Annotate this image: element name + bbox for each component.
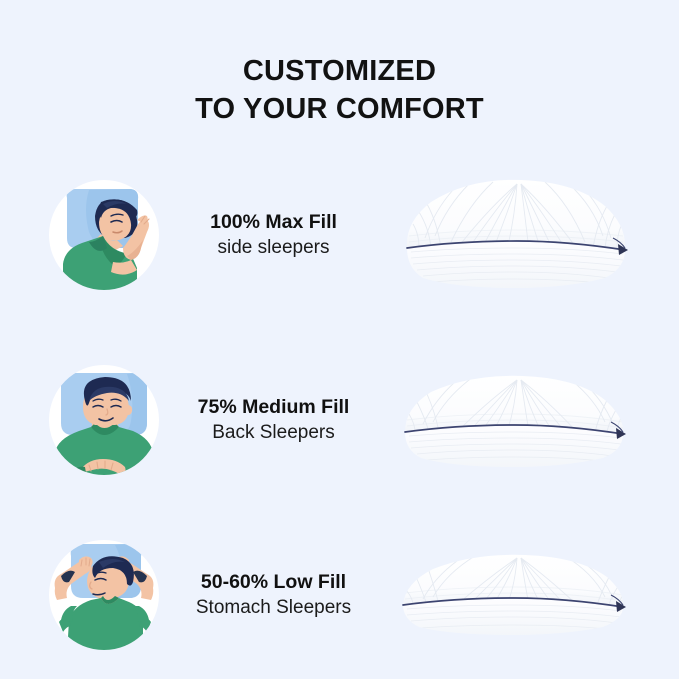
comfort-row-back-sleeper: 75% Medium Fill Back Sleepers	[0, 340, 679, 500]
comfort-row-stomach-sleeper: 50-60% Low Fill Stomach Sleepers	[0, 515, 679, 675]
back-sleeper-type-label: Back Sleepers	[171, 420, 376, 445]
back-sleeper-fill-label: 75% Medium Fill	[171, 395, 376, 420]
pillow-low-loft	[394, 530, 639, 660]
back-sleeper-illustration	[45, 361, 163, 479]
page-title-line-2: TO YOUR COMFORT	[0, 90, 679, 128]
page-title-line-1: CUSTOMIZED	[0, 52, 679, 90]
page-title: CUSTOMIZED TO YOUR COMFORT	[0, 52, 679, 128]
side-sleeper-labels: 100% Max Fill side sleepers	[171, 210, 376, 260]
infographic-page: CUSTOMIZED TO YOUR COMFORT	[0, 0, 679, 679]
back-sleeper-labels: 75% Medium Fill Back Sleepers	[171, 395, 376, 445]
pillow-full-loft	[394, 170, 639, 300]
comfort-row-side-sleeper: 100% Max Fill side sleepers	[0, 155, 679, 315]
side-sleeper-type-label: side sleepers	[171, 235, 376, 260]
side-sleeper-illustration	[45, 176, 163, 294]
stomach-sleeper-illustration	[45, 536, 163, 654]
stomach-sleeper-fill-label: 50-60% Low Fill	[171, 570, 376, 595]
stomach-sleeper-type-label: Stomach Sleepers	[171, 595, 376, 620]
pillow-medium-loft	[394, 355, 639, 485]
stomach-sleeper-labels: 50-60% Low Fill Stomach Sleepers	[171, 570, 376, 620]
side-sleeper-fill-label: 100% Max Fill	[171, 210, 376, 235]
